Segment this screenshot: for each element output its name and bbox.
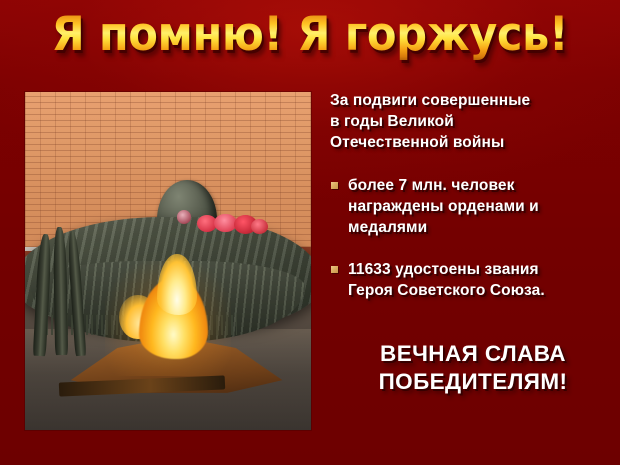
body-line: медалями bbox=[348, 217, 616, 238]
memorial-photo bbox=[25, 92, 311, 430]
presentation-slide: Я помню! Я горжусь! За подвиги совершенн… bbox=[0, 0, 620, 465]
body-line: награждены орденами и bbox=[348, 196, 616, 217]
carnation-flower bbox=[177, 210, 191, 224]
body-line: Отечественной войны bbox=[330, 132, 616, 153]
body-paragraph-bulleted: 11633 удостоены звания Героя Советского … bbox=[330, 259, 616, 301]
body-line: 11633 удостоены звания bbox=[348, 259, 616, 280]
slogan-line-2: ПОБЕДИТЕЛЯМ! bbox=[330, 368, 616, 396]
slogan-line-1: ВЕЧНАЯ СЛАВА bbox=[330, 340, 616, 368]
body-line: более 7 млн. человек bbox=[348, 175, 616, 196]
body-paragraph: За подвиги совершенные в годы Великой От… bbox=[330, 90, 616, 153]
slide-body-text: За подвиги совершенные в годы Великой От… bbox=[330, 90, 616, 301]
body-paragraph-bulleted: более 7 млн. человек награждены орденами… bbox=[330, 175, 616, 238]
body-line: За подвиги совершенные bbox=[330, 90, 616, 111]
carnation-flower bbox=[251, 219, 268, 234]
slide-title: Я помню! Я горжусь! bbox=[52, 10, 569, 60]
square-bullet-icon bbox=[331, 266, 338, 273]
square-bullet-icon bbox=[331, 182, 338, 189]
slide-slogan: ВЕЧНАЯ СЛАВА ПОБЕДИТЕЛЯМ! bbox=[330, 340, 616, 396]
body-line: в годы Великой bbox=[330, 111, 616, 132]
body-line: Героя Советского Союза. bbox=[348, 280, 616, 301]
slide-title-container: Я помню! Я горжусь! bbox=[0, 6, 620, 64]
